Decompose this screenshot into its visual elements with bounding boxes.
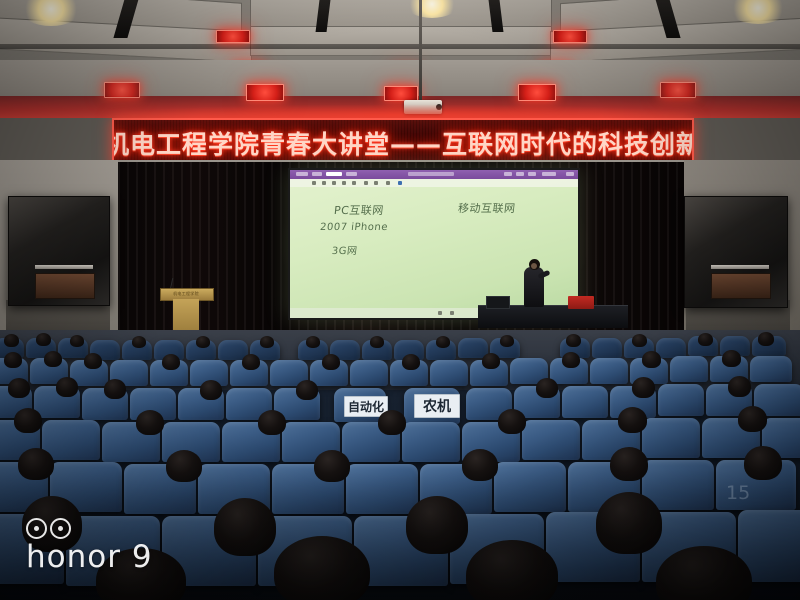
right-speaker — [684, 196, 788, 308]
exit-sign-icon — [660, 82, 696, 98]
seat-sign-agri-machinery: 农机 — [414, 394, 460, 418]
screen-handwriting-line: 2007 iPhone — [319, 222, 388, 233]
laptop — [486, 296, 510, 309]
exit-sign-icon — [518, 84, 556, 101]
exit-sign-icon — [104, 82, 140, 98]
exit-sign-icon — [384, 86, 418, 101]
app-ribbon — [290, 170, 578, 179]
ceiling-beam — [0, 44, 800, 49]
exit-sign-icon — [216, 30, 250, 43]
left-speaker — [8, 196, 110, 306]
presenter-face — [531, 263, 537, 269]
ceiling-panel — [250, 26, 552, 56]
led-banner-text: 机电工程学院青春大讲堂——互联网时代的科技创新 — [112, 125, 694, 161]
app-toolbar — [290, 179, 578, 187]
screen-handwriting-line: 3G网 — [331, 242, 358, 257]
honor-watermark: honor 9 — [26, 518, 153, 573]
red-bag — [568, 296, 594, 309]
exit-sign-icon — [553, 30, 587, 43]
photo-scene: 机电工程学院青春大讲堂——互联网时代的科技创新 — [0, 0, 800, 600]
screen-handwriting-line: PC互联网 — [333, 202, 385, 218]
projector-pole — [419, 0, 422, 102]
ceiling — [0, 0, 800, 120]
seat-number: 15 — [726, 482, 750, 504]
podium-label: 机电工程学院 — [166, 291, 206, 297]
dual-camera-icon — [26, 518, 153, 539]
honor-watermark-text: honor 9 — [26, 542, 153, 573]
screen-handwriting-line: 移动互联网 — [457, 200, 516, 216]
exit-sign-icon — [246, 84, 284, 101]
